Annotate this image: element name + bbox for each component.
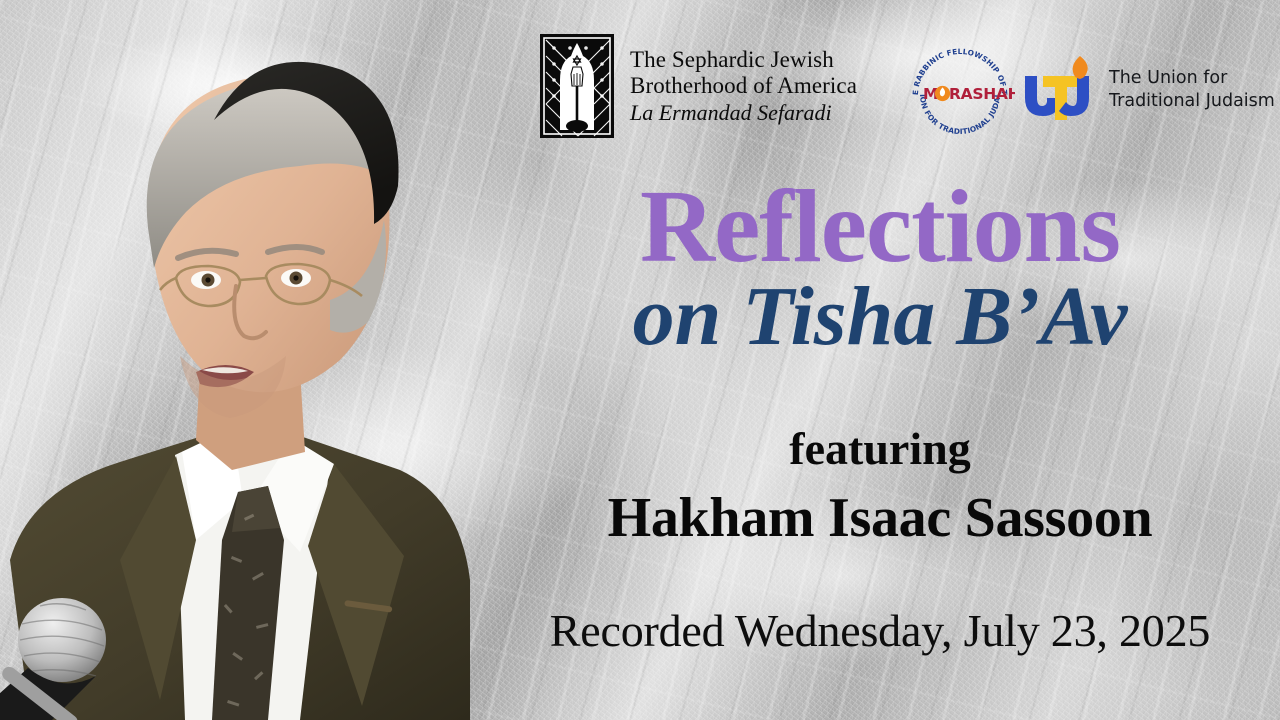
utj-logo-group: THE RABBINIC FELLOWSHIP OF THE UNION FOR…: [905, 44, 1275, 136]
sjba-line-1: The Sephardic Jewish: [630, 47, 857, 74]
sjba-text: The Sephardic Jewish Brotherhood of Amer…: [630, 47, 857, 126]
speaker-photo: [0, 0, 490, 720]
headline-block: Reflections on Tisha B’Av featuring Hakh…: [480, 176, 1280, 656]
title-reflections: Reflections: [480, 176, 1280, 278]
morashah-seal-icon: THE RABBINIC FELLOWSHIP OF THE UNION FOR…: [905, 44, 1015, 136]
video-title-card: The Sephardic Jewish Brotherhood of Amer…: [0, 0, 1280, 720]
recorded-date: Recorded Wednesday, July 23, 2025: [480, 606, 1280, 657]
svg-text:RASHAH: RASHAH: [949, 85, 1015, 103]
utj-name-line-2: Traditional Judaism: [1109, 90, 1275, 113]
subtitle-tisha-bav: on Tisha B’Av: [480, 274, 1280, 360]
moorish-arch-lamp-icon: [540, 34, 614, 138]
sjba-line-2: Brotherhood of America: [630, 73, 857, 100]
featuring-label: featuring: [480, 424, 1280, 475]
sjba-line-3: La Ermandad Sefaradi: [630, 100, 857, 126]
utj-letters-icon: [1017, 54, 1097, 126]
utj-name-text: The Union for Traditional Judaism: [1109, 67, 1275, 113]
speaker-name: Hakham Isaac Sassoon: [480, 488, 1280, 550]
utj-name-line-1: The Union for: [1109, 67, 1275, 90]
logo-strip: The Sephardic Jewish Brotherhood of Amer…: [540, 34, 1275, 138]
sjba-logo: The Sephardic Jewish Brotherhood of Amer…: [540, 34, 857, 138]
